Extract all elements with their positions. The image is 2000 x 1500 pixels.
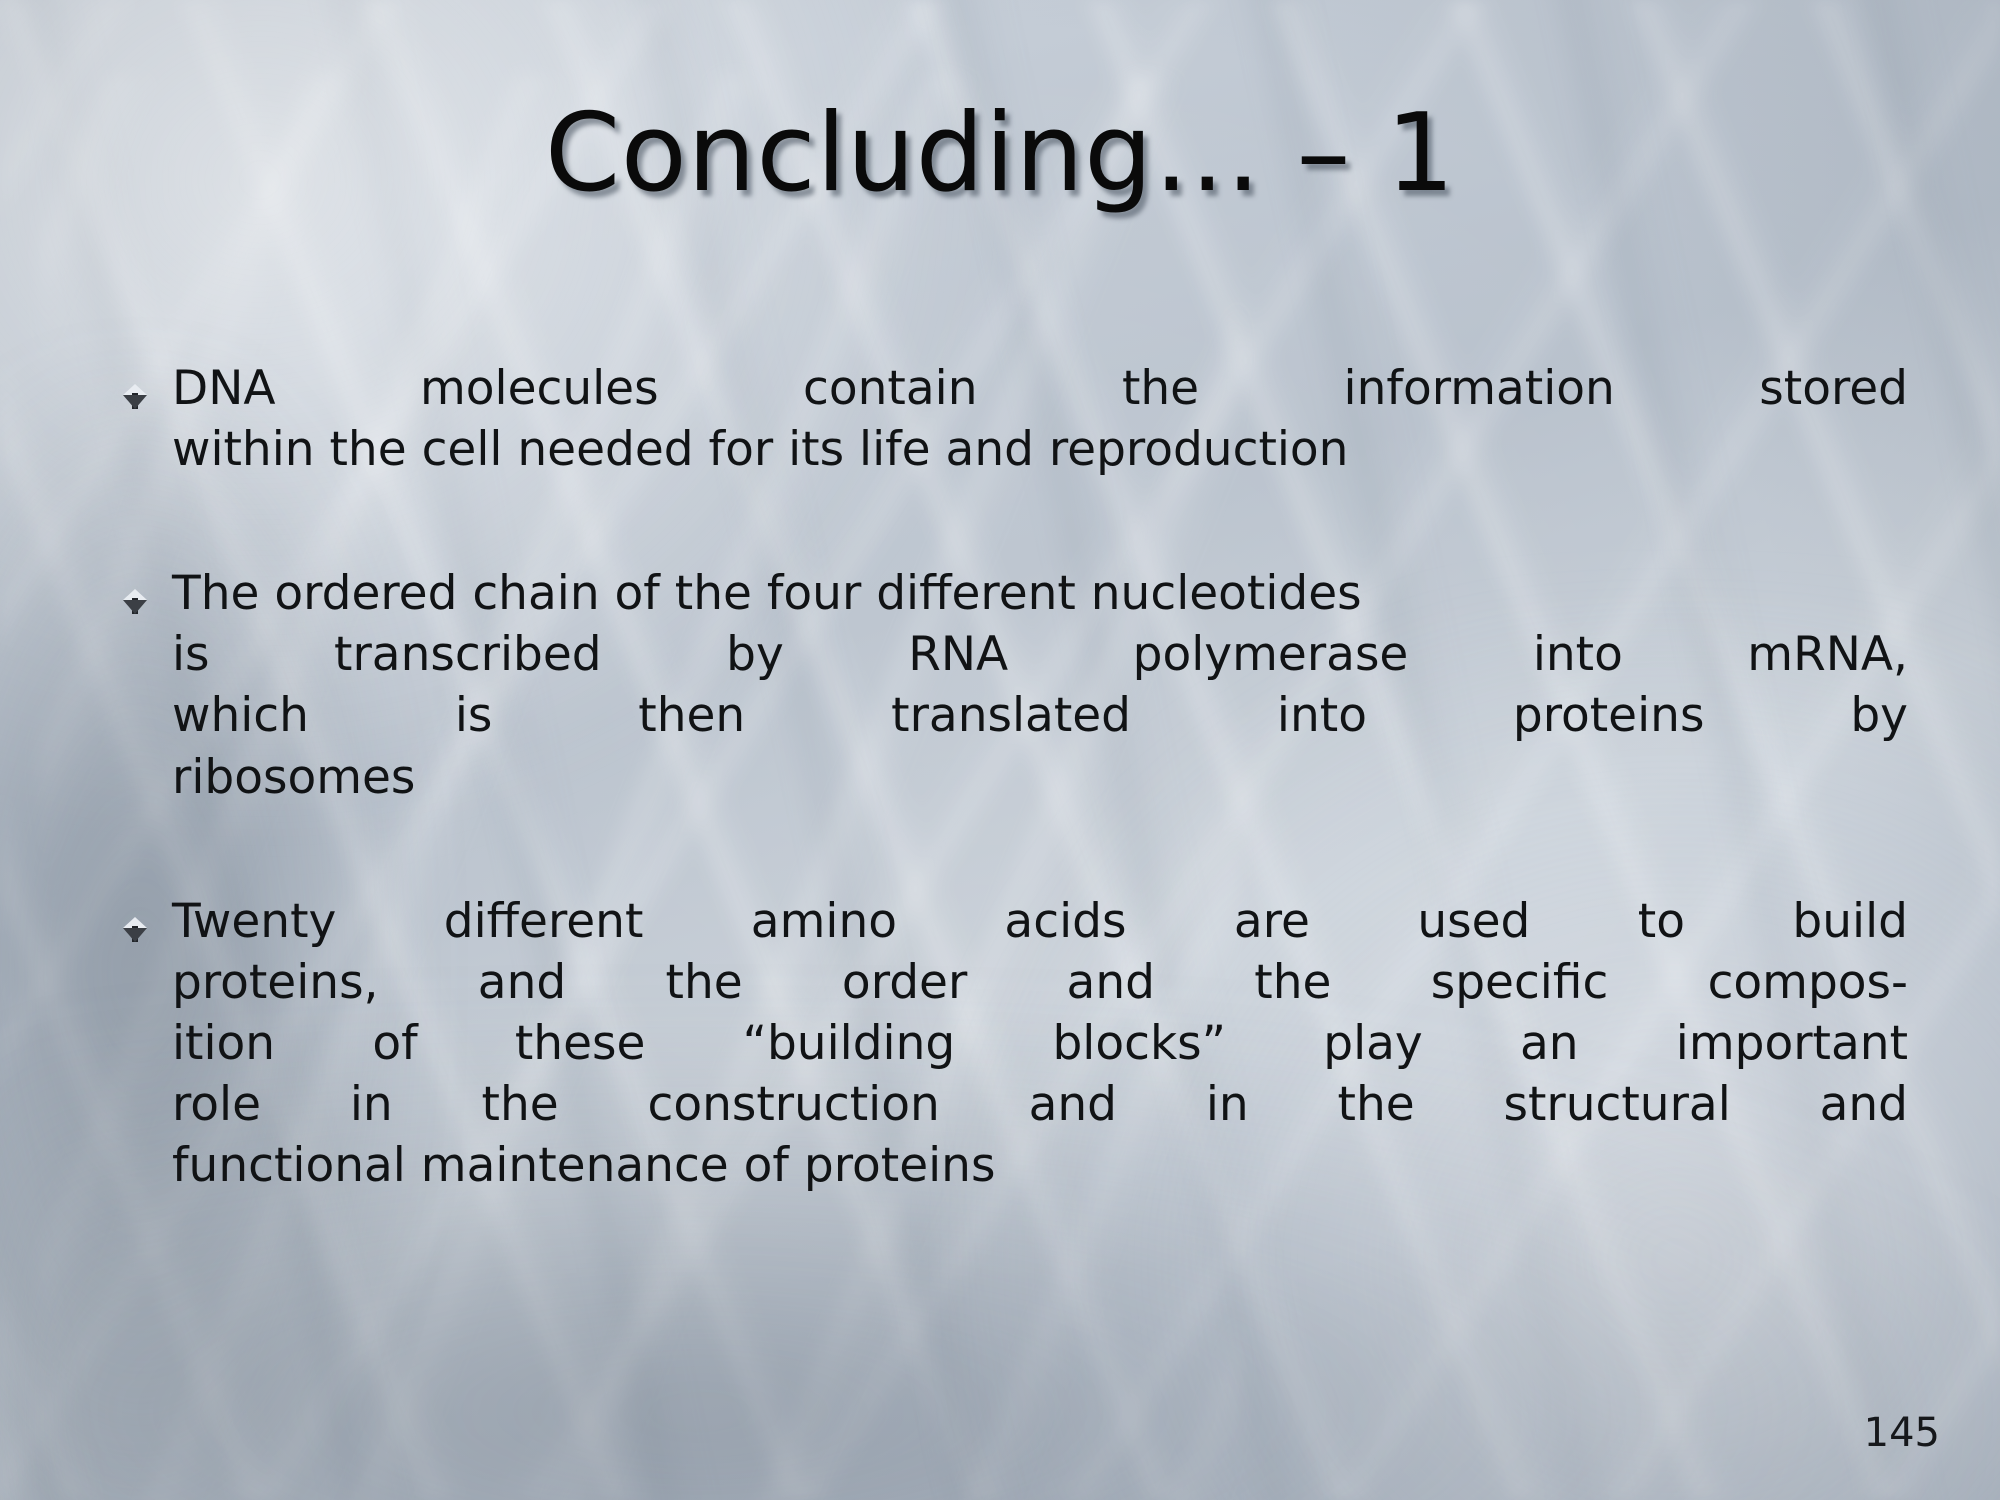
bullet-line: is transcribed by RNA polymerase into mR… [172, 624, 1908, 685]
bullet-line: ition of these “building blocks” play an… [172, 1013, 1908, 1074]
bullet-text: Twenty different amino acids are used to… [172, 891, 1908, 1258]
dart-diamond-bullet-icon [118, 382, 152, 416]
bullet-item-dna-information: DNA molecules contain the information st… [118, 358, 1908, 541]
bullet-text: DNA molecules contain the information st… [172, 358, 1908, 541]
bullet-item-transcription-translation: The ordered chain of the four different … [118, 563, 1908, 868]
bullet-line: within the cell needed for its life and … [172, 419, 1908, 480]
bullet-line: functional maintenance of proteins [172, 1135, 1908, 1196]
bullet-line: DNA molecules contain the information st… [172, 358, 1908, 419]
dart-diamond-bullet-icon [118, 915, 152, 949]
bullet-line: Twenty different amino acids are used to… [172, 891, 1908, 952]
slide-title: Concluding… – 1 [0, 96, 2000, 213]
bullet-line: which is then translated into proteins b… [172, 685, 1908, 746]
bullet-item-amino-acids: Twenty different amino acids are used to… [118, 891, 1908, 1258]
bullet-line: proteins, and the order and the specific… [172, 952, 1908, 1013]
page-number: 145 [1864, 1410, 1940, 1456]
presentation-slide: Concluding… – 1 DNA molecules contain th… [0, 0, 2000, 1500]
bullet-line: The ordered chain of the four different … [172, 563, 1908, 624]
bullet-line: ribosomes [172, 747, 1908, 808]
bullet-line: role in the construction and in the stru… [172, 1074, 1908, 1135]
dart-diamond-bullet-icon [118, 587, 152, 621]
bullet-text: The ordered chain of the four different … [172, 563, 1908, 868]
slide-body: DNA molecules contain the information st… [118, 358, 1908, 1279]
